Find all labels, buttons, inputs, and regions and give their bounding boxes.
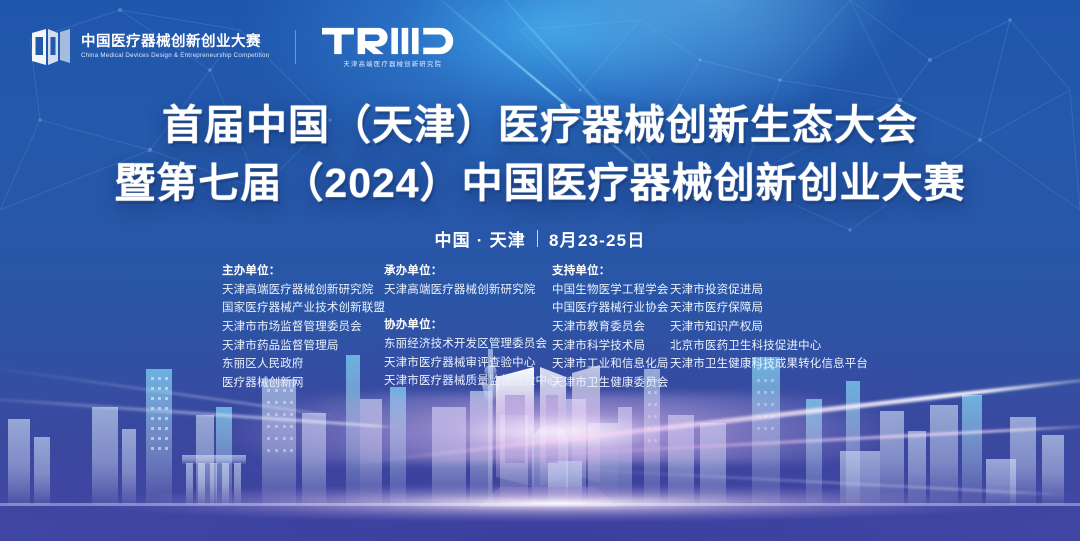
institute-logo-cn: 天津高端医疗器械创新研究院 [343,59,442,68]
event-date: 8月23-25日 [549,226,646,251]
title-line-1: 首届中国（天津）医疗器械创新生态大会 [0,96,1080,154]
organizer-column-supporters: 支持单位： 中国生物医学工程学会 中国医疗器械行业协会 天津市教育委员会 天津市… [552,262,670,392]
organizer-item: 天津市投资促进局 [670,281,868,300]
organizer-heading: 协办单位： [384,316,552,335]
title-line-2: 暨第七届（2024）中国医疗器械创新创业大赛 [0,154,1080,212]
organizer-item: 东丽区人民政府 [222,355,384,374]
organizer-spacer [384,299,552,316]
competition-logo-cn: 中国医疗器械创新创业大赛 [81,35,269,50]
institute-logo: 天津高端医疗器械创新研究院 [322,26,463,68]
organizer-item: 天津市药品监督管理局 [222,337,384,356]
organizer-item: 天津市卫生健康科技成果转化信息平台 [670,355,868,374]
competition-logo: 中国医疗器械创新创业大赛 China Medical Devices Desig… [30,27,269,67]
title-block: 首届中国（天津）医疗器械创新生态大会 暨第七届（2024）中国医疗器械创新创业大… [0,96,1080,251]
event-location: 中国 · 天津 [434,226,526,251]
organizer-column-host: 主办单位： 天津高端医疗器械创新研究院 国家医疗器械产业技术创新联盟 天津市市场… [222,262,384,392]
conference-poster: 中国医疗器械创新创业大赛 China Medical Devices Desig… [0,0,1080,541]
organizer-item: 天津市医疗保障局 [670,299,868,318]
organizer-item: 天津市医疗器械质量监督检验中心 [384,372,552,391]
organizer-item: 天津市工业和信息化局 [552,355,670,374]
organizer-item: 中国生物医学工程学会 [552,281,670,300]
event-meta-line: 中国 · 天津 8月23-25日 [0,226,1080,251]
organizer-column-undertaker: 承办单位： 天津高端医疗器械创新研究院 协办单位： 东丽经济技术开发区管理委员会… [384,262,552,391]
organizer-item: 东丽经济技术开发区管理委员会 [384,335,552,354]
meta-separator [537,230,538,247]
open-book-door-logo-icon [30,27,72,67]
organizer-heading: 承办单位： [384,262,552,281]
organizer-block: 主办单位： 天津高端医疗器械创新研究院 国家医疗器械产业技术创新联盟 天津市市场… [222,262,868,392]
header-logo-bar: 中国医疗器械创新创业大赛 China Medical Devices Desig… [30,26,463,68]
organizer-item: 医疗器械创新网 [222,374,384,393]
organizer-heading: 支持单位： [552,262,670,281]
organizer-item: 中国医疗器械行业协会 [552,299,670,318]
organizer-item: 天津高端医疗器械创新研究院 [222,281,384,300]
organizer-heading: 主办单位： [222,262,384,281]
organizer-item: 天津市卫生健康委员会 [552,374,670,393]
competition-logo-en: China Medical Devices Design & Entrepren… [81,53,269,59]
organizer-item: 天津市市场监督管理委员会 [222,318,384,337]
organizer-item: 国家医疗器械产业技术创新联盟 [222,299,384,318]
organizer-heading [670,262,868,281]
organizer-item: 天津市医疗器械审评查验中心 [384,354,552,373]
logo-divider [295,30,296,64]
organizer-item: 天津市知识产权局 [670,318,868,337]
organizer-column-supporters-continued: 天津市投资促进局 天津市医疗保障局 天津市知识产权局 北京市医药卫生科技促进中心… [670,262,868,374]
organizer-item: 天津高端医疗器械创新研究院 [384,281,552,300]
triid-wordmark-icon [322,26,463,56]
organizer-item: 天津市科学技术局 [552,337,670,356]
organizer-item: 天津市教育委员会 [552,318,670,337]
organizer-item: 北京市医药卫生科技促进中心 [670,337,868,356]
